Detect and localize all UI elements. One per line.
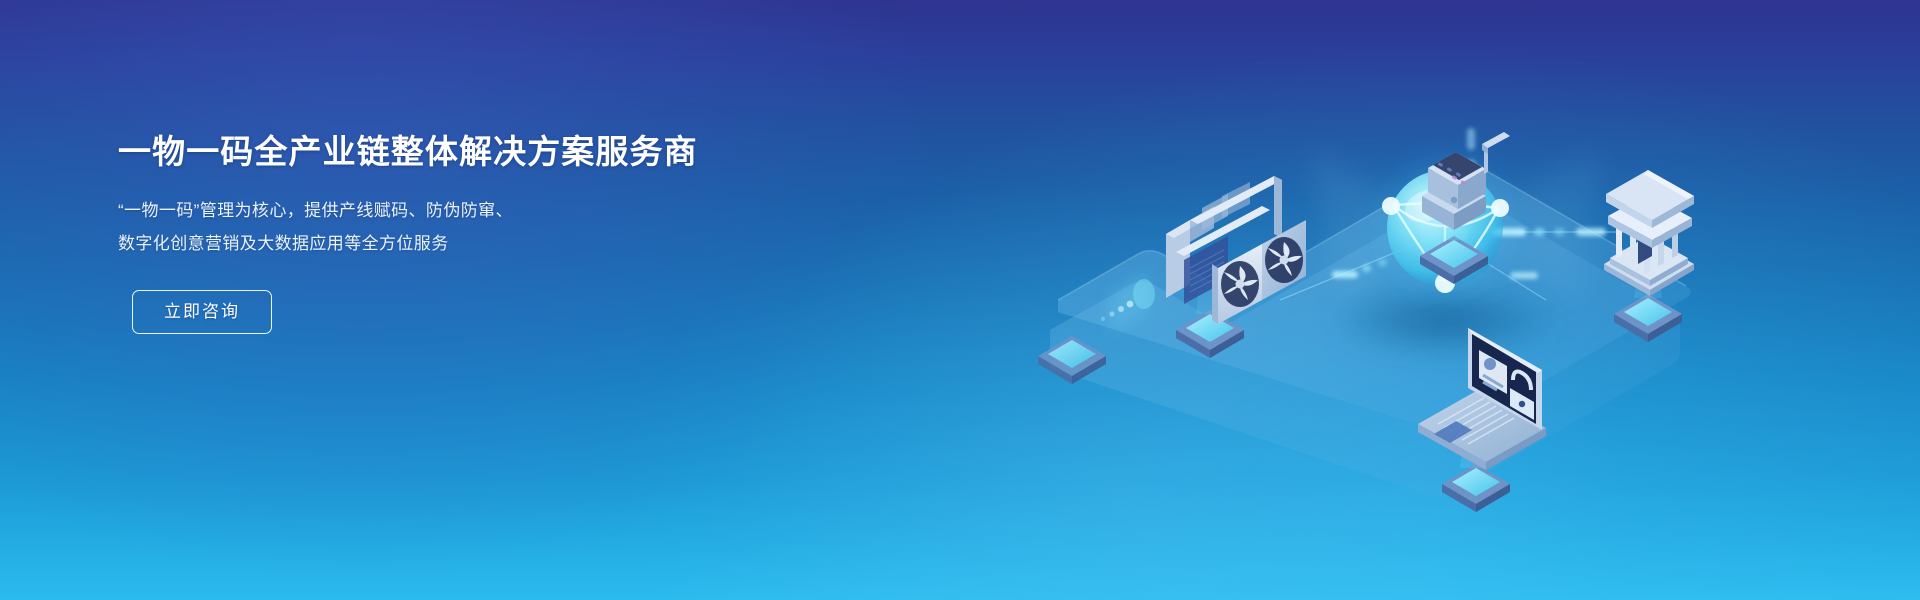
consult-now-button[interactable]: 立即咨询: [132, 290, 272, 334]
page-title: 一物一码全产业链整体解决方案服务商: [118, 132, 758, 172]
bank-building-node: [1604, 170, 1694, 342]
hero-copy: 一物一码全产业链整体解决方案服务商 “一物一码”管理为核心，提供产线赋码、防伪防…: [118, 132, 758, 334]
hero-subtitle-line-2: 数字化创意营销及大数据应用等全方位服务: [118, 227, 758, 260]
hero-banner: 一物一码全产业链整体解决方案服务商 “一物一码”管理为核心，提供产线赋码、防伪防…: [0, 0, 1920, 600]
hero-subtitle-line-1: “一物一码”管理为核心，提供产线赋码、防伪防窜、: [118, 194, 758, 227]
hero-illustration: [980, 0, 1920, 600]
hero-subtitle: “一物一码”管理为核心，提供产线赋码、防伪防窜、 数字化创意营销及大数据应用等全…: [118, 194, 758, 260]
